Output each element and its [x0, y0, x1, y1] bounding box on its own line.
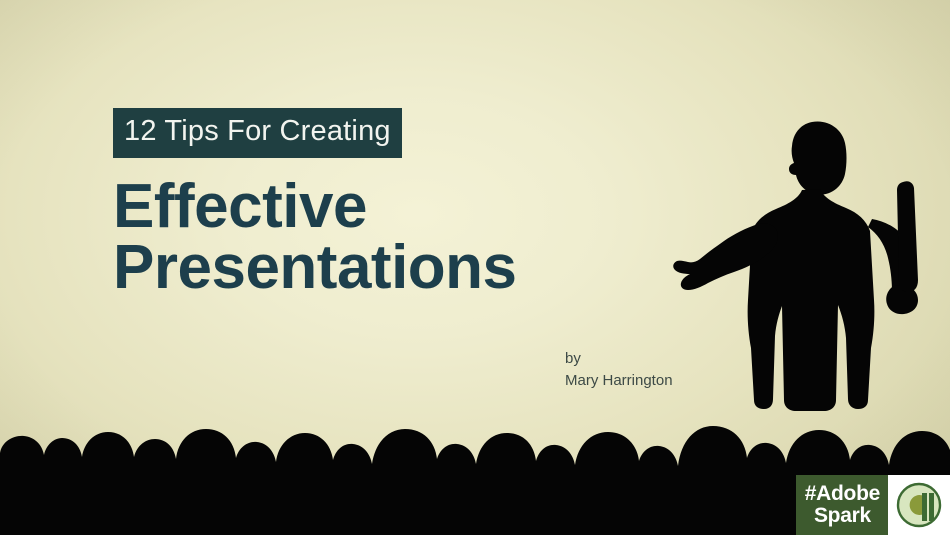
adobe-spark-logo-icon	[888, 475, 950, 535]
watermark-line-1: #Adobe	[805, 483, 880, 505]
watermark-line-2: Spark	[805, 505, 880, 527]
eyebrow-banner: 12 Tips For Creating	[113, 108, 402, 158]
slide-text-block: 12 Tips For Creating Effective Presentat…	[113, 108, 713, 299]
title-line-2: Presentations	[113, 237, 713, 298]
byline-author: Mary Harrington	[565, 370, 673, 392]
speaker-silhouette-icon	[672, 100, 950, 460]
watermark-text: #Adobe Spark	[796, 475, 888, 535]
page-title: Effective Presentations	[113, 176, 713, 299]
presentation-slide: 12 Tips For Creating Effective Presentat…	[0, 0, 950, 535]
title-line-1: Effective	[113, 176, 713, 237]
byline: by Mary Harrington	[565, 348, 673, 392]
byline-prefix: by	[565, 348, 673, 370]
adobe-spark-watermark[interactable]: #Adobe Spark	[796, 475, 950, 535]
